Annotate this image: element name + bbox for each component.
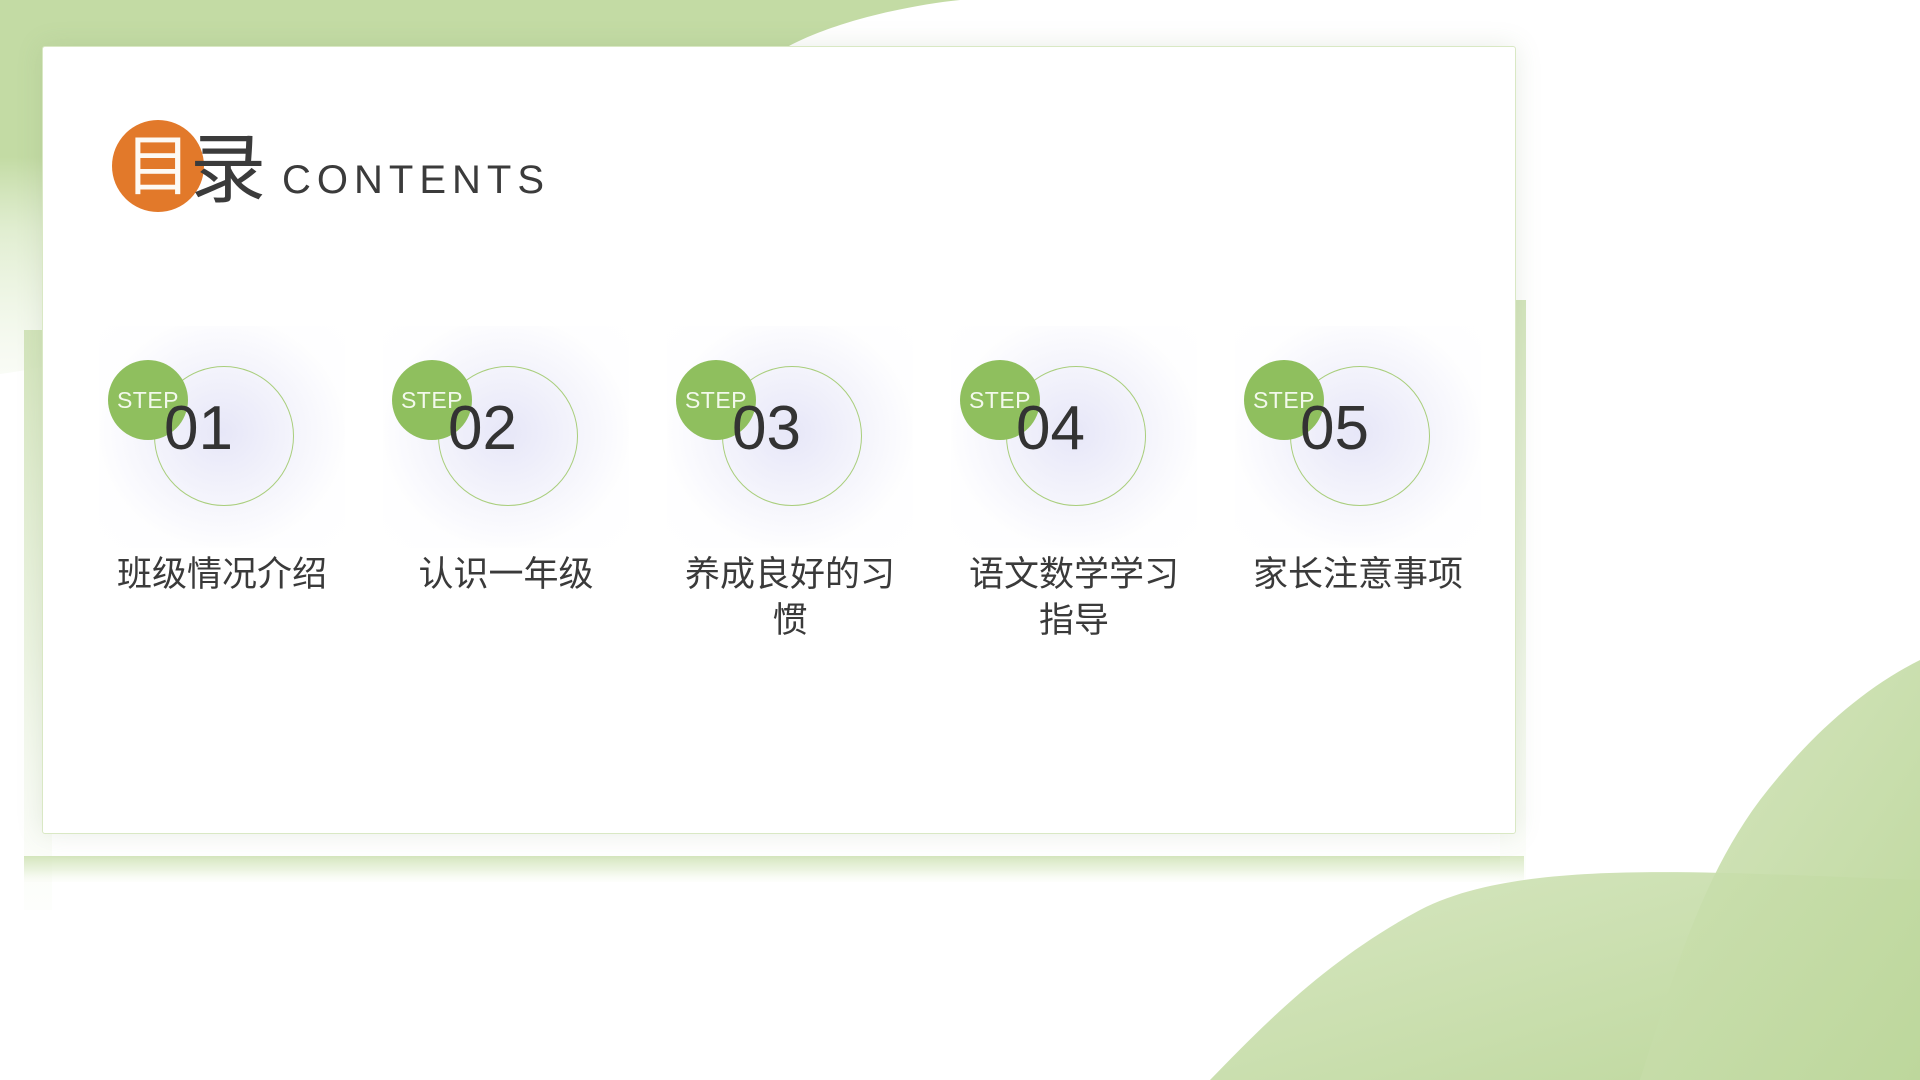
shape-bottom-strip — [24, 856, 1524, 882]
list-item[interactable]: STEP 04 语文数学学习指导 — [932, 318, 1216, 644]
step-label: 养成良好的习惯 — [671, 552, 909, 644]
list-item[interactable]: STEP 03 养成良好的习惯 — [648, 318, 932, 644]
step-graphic: STEP 03 — [648, 318, 932, 556]
page-title: 目 录 CONTENTS — [112, 106, 550, 226]
list-item[interactable]: STEP 05 家长注意事项 — [1216, 318, 1500, 644]
step-graphic: STEP 01 — [80, 318, 364, 556]
list-item[interactable]: STEP 01 班级情况介绍 — [80, 318, 364, 644]
step-graphic: STEP 02 — [364, 318, 648, 556]
step-label: 认识一年级 — [387, 552, 625, 598]
step-number: 01 — [164, 398, 294, 460]
title-chinese: 录 — [190, 132, 266, 208]
step-graphic: STEP 04 — [932, 318, 1216, 556]
list-item[interactable]: STEP 02 认识一年级 — [364, 318, 648, 644]
step-label: 家长注意事项 — [1239, 552, 1477, 598]
step-number: 04 — [1016, 398, 1146, 460]
step-graphic: STEP 05 — [1216, 318, 1500, 556]
shape-bottom-right-2 — [1640, 660, 1920, 1080]
step-number: 02 — [448, 398, 578, 460]
title-english: CONTENTS — [282, 160, 550, 200]
step-number: 03 — [732, 398, 862, 460]
step-number: 05 — [1300, 398, 1430, 460]
step-label: 语文数学学习指导 — [955, 552, 1193, 644]
step-label: 班级情况介绍 — [103, 552, 341, 598]
contents-step-list: STEP 01 班级情况介绍 STEP 02 认识一年级 STEP 03 养成良… — [80, 318, 1500, 644]
logo-glyph: 目 — [125, 134, 191, 200]
